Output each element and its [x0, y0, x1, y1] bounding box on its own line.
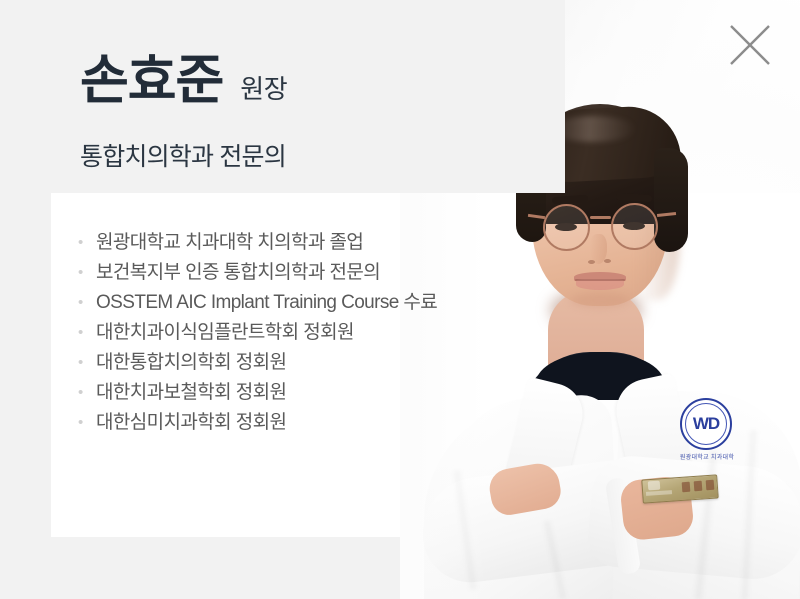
coat-emblem-label: WD [685, 403, 727, 445]
list-item: • 대한통합치의학회 정회원 [78, 348, 437, 378]
list-item: • 원광대학교 치과대학 치의학과 졸업 [78, 228, 437, 258]
chin-shading [570, 292, 630, 308]
bullet-icon: • [78, 408, 96, 438]
bullet-icon: • [78, 228, 96, 258]
doctor-portrait-photo: WD 원광대학교 치과대학 [400, 0, 800, 599]
close-x-icon [726, 21, 774, 69]
doctor-profile-modal: WD 원광대학교 치과대학 손효준 원장 통합치의학과 전문의 • 원광대학교 … [0, 0, 800, 599]
badge-character [706, 480, 715, 491]
badge-character [682, 482, 691, 493]
glasses-bridge [590, 216, 611, 219]
credentials-list: • 원광대학교 치과대학 치의학과 졸업 • 보건복지부 인증 통합치의학과 전… [78, 228, 437, 438]
list-item: • 보건복지부 인증 통합치의학과 전문의 [78, 258, 437, 288]
list-item-label: 대한치과이식임플란트학회 정회원 [96, 318, 354, 348]
list-item-label: 대한치과보철학회 정회원 [96, 378, 286, 408]
glasses-lens-right [611, 203, 658, 250]
coat-emblem-caption: 원광대학교 치과대학 [676, 452, 738, 461]
doctor-specialty: 통합치의학과 전문의 [80, 142, 286, 172]
page-title: 손효준 [80, 54, 223, 107]
bullet-icon: • [78, 348, 96, 378]
close-button[interactable] [726, 21, 774, 69]
badge-logo-mark [648, 481, 661, 491]
photo-top-mask [400, 0, 565, 193]
list-item-label: OSSTEM AIC Implant Training Course 수료 [96, 288, 437, 318]
list-item-label: 보건복지부 인증 통합치의학과 전문의 [96, 258, 380, 288]
list-item-label: 대한심미치과학회 정회원 [96, 408, 286, 438]
bullet-icon: • [78, 318, 96, 348]
badge-character [694, 481, 703, 492]
nostril-left [588, 260, 595, 264]
list-item: • 대한치과이식임플란트학회 정회원 [78, 318, 437, 348]
hair-side-right [654, 148, 688, 252]
bullet-icon: • [78, 258, 96, 288]
list-item: • 대한치과보철학회 정회원 [78, 378, 437, 408]
mouth-line [575, 279, 625, 281]
bullet-icon: • [78, 378, 96, 408]
doctor-position: 원장 [240, 76, 287, 102]
doctor-name-row: 손효준 원장 [80, 54, 287, 107]
list-item-label: 대한통합치의학회 정회원 [96, 348, 286, 378]
list-item: • OSSTEM AIC Implant Training Course 수료 [78, 288, 437, 318]
nostril-right [604, 259, 611, 263]
list-item: • 대한심미치과학회 정회원 [78, 408, 437, 438]
list-item-label: 원광대학교 치과대학 치의학과 졸업 [96, 228, 363, 258]
glasses-lens-left [543, 204, 590, 251]
coat-emblem-icon: WD [680, 398, 732, 450]
bullet-icon: • [78, 288, 96, 318]
